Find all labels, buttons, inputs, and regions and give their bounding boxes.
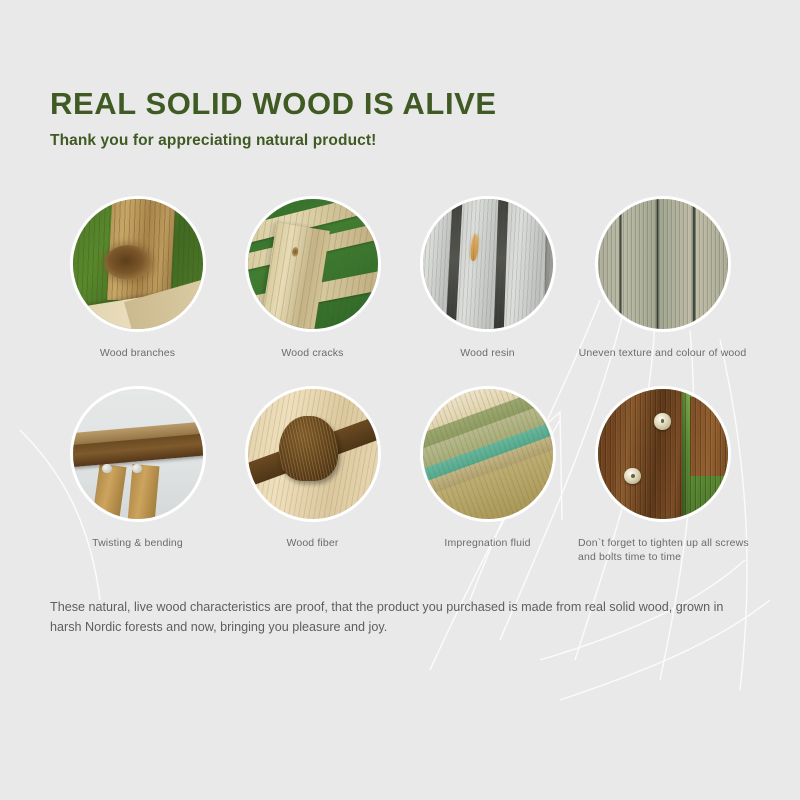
screws-bolts-image	[595, 386, 731, 522]
tile-uneven-texture: Uneven texture and colour of wood	[575, 196, 750, 386]
caption-impregnation-fluid: Impregnation fluid	[400, 536, 575, 550]
page-subtitle: Thank you for appreciating natural produ…	[50, 132, 497, 150]
caption-twisting-bending: Twisting & bending	[50, 536, 225, 550]
tile-twisting-bending: Twisting & bending	[50, 386, 225, 576]
circle-wrap	[420, 386, 556, 522]
circle-wrap	[595, 386, 731, 522]
tile-wood-fiber: Wood fiber	[225, 386, 400, 576]
circle-wrap	[70, 386, 206, 522]
tile-screws-bolts: Don`t forget to tighten up all screws an…	[575, 386, 750, 576]
wood-care-infographic: REAL SOLID WOOD IS ALIVE Thank you for a…	[0, 0, 800, 800]
header: REAL SOLID WOOD IS ALIVE Thank you for a…	[50, 88, 497, 150]
footnote-text: These natural, live wood characteristics…	[50, 598, 740, 637]
circle-wrap	[420, 196, 556, 332]
twisting-bending-image	[70, 386, 206, 522]
wood-resin-image	[420, 196, 556, 332]
wood-branches-image	[70, 196, 206, 332]
circle-wrap	[595, 196, 731, 332]
impregnation-fluid-image	[420, 386, 556, 522]
circle-wrap	[245, 386, 381, 522]
caption-wood-fiber: Wood fiber	[225, 536, 400, 550]
page-title: REAL SOLID WOOD IS ALIVE	[50, 88, 497, 121]
caption-wood-resin: Wood resin	[400, 346, 575, 360]
circle-wrap	[70, 196, 206, 332]
caption-wood-branches: Wood branches	[50, 346, 225, 360]
caption-screws-bolts: Don`t forget to tighten up all screws an…	[575, 536, 750, 564]
tile-wood-resin: Wood resin	[400, 196, 575, 386]
tile-impregnation-fluid: Impregnation fluid	[400, 386, 575, 576]
caption-uneven-texture: Uneven texture and colour of wood	[575, 346, 750, 360]
tile-wood-branches: Wood branches	[50, 196, 225, 386]
uneven-texture-image	[595, 196, 731, 332]
circle-wrap	[245, 196, 381, 332]
wood-cracks-image	[245, 196, 381, 332]
wood-fiber-image	[245, 386, 381, 522]
caption-wood-cracks: Wood cracks	[225, 346, 400, 360]
characteristics-grid: Wood branches Wood cracks	[50, 196, 750, 576]
tile-wood-cracks: Wood cracks	[225, 196, 400, 386]
